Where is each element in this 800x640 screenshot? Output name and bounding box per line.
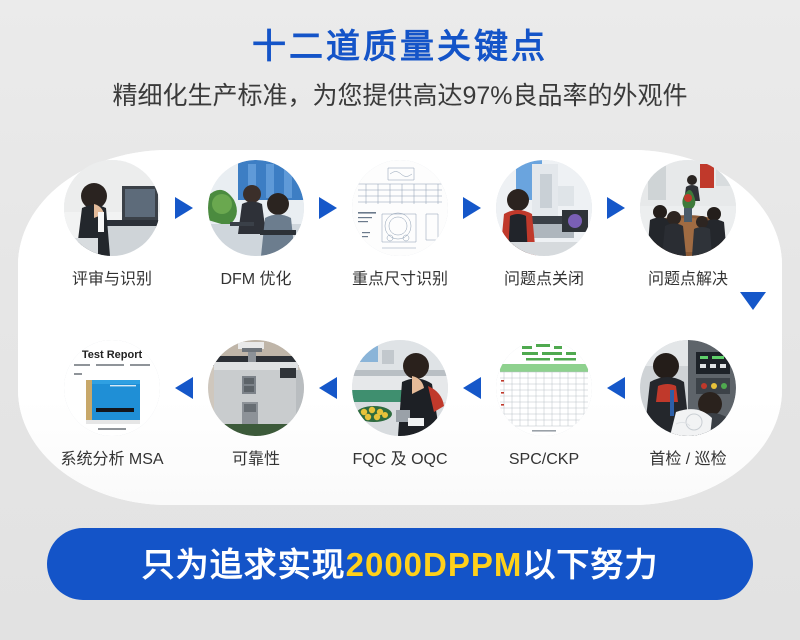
flow-arrow-right-icon [603, 160, 629, 256]
operators-at-cnc-machine-photo [640, 340, 736, 436]
page-subtitle: 精细化生产标准，为您提供高达97%良品率的外观件 [0, 81, 800, 111]
flow-step-label: 系统分析 MSA [60, 450, 163, 469]
banner-text-highlight: 2000DPPM [346, 546, 523, 583]
page-title: 十二道质量关键点 [0, 28, 800, 67]
test-report-document: Test Report [64, 340, 160, 436]
flow-arrow-left-icon [603, 340, 629, 436]
infographic-poster: 十二道质量关键点 精细化生产标准，为您提供高达97%良品率的外观件 [0, 0, 800, 640]
flow-step-label: 问题点关闭 [504, 270, 584, 289]
flow-step-msa[interactable]: Test Report [53, 340, 171, 469]
flow-step-label: DFM 优化 [220, 270, 291, 289]
flow-step-fqc-oqc[interactable]: FQC 及 OQC [341, 340, 459, 469]
flow-step-label: 重点尺寸识别 [352, 270, 448, 289]
engineer-at-desk-photo [64, 160, 160, 256]
flow-step-key-dimension[interactable]: 重点尺寸识别 [341, 160, 459, 289]
flow-step-label: 可靠性 [232, 450, 280, 469]
flow-step-label: FQC 及 OQC [352, 450, 447, 469]
flow-row-top: 评审与识别 [0, 160, 800, 289]
spc-data-sheet-document [496, 340, 592, 436]
cmm-measuring-machine-photo [496, 160, 592, 256]
flow-step-label: SPC/CKP [509, 450, 579, 469]
flow-step-label: 首检 / 巡检 [649, 450, 726, 469]
flow-step-issue-close[interactable]: 问题点关闭 [485, 160, 603, 289]
heading-block: 十二道质量关键点 精细化生产标准，为您提供高达97%良品率的外观件 [0, 0, 800, 111]
flow-step-dfm[interactable]: DFM 优化 [197, 160, 315, 289]
flow-arrow-right-icon [315, 160, 341, 256]
svg-text:Test Report: Test Report [82, 349, 143, 361]
flow-arrow-right-icon [171, 160, 197, 256]
conference-room-meeting-photo [640, 160, 736, 256]
flow-step-spc-ckp[interactable]: SPC/CKP [485, 340, 603, 469]
environmental-test-chamber-photo [208, 340, 304, 436]
flow-arrow-right-icon [459, 160, 485, 256]
flow-arrow-left-icon [171, 340, 197, 436]
flow-arrow-left-icon [315, 340, 341, 436]
flow-step-issue-resolve[interactable]: 问题点解决 [629, 160, 747, 289]
bottom-banner: 只为追求实现2000DPPM以下努力 [47, 528, 753, 600]
cad-drawing-document [352, 160, 448, 256]
team-meeting-desk-photo [208, 160, 304, 256]
flow-arrow-down-icon [740, 292, 766, 310]
flow-step-label: 评审与识别 [72, 270, 152, 289]
banner-text-before: 只为追求实现 [142, 546, 346, 583]
flow-row-bottom: Test Report [0, 340, 800, 469]
inspector-at-bench-photo [352, 340, 448, 436]
banner-text: 只为追求实现2000DPPM以下努力 [142, 548, 659, 581]
flow-step-reliability[interactable]: 可靠性 [197, 340, 315, 469]
flow-step-label: 问题点解决 [648, 270, 728, 289]
flow-step-review[interactable]: 评审与识别 [53, 160, 171, 289]
banner-text-after: 以下努力 [522, 546, 658, 583]
flow-step-first-patrol-inspection[interactable]: 首检 / 巡检 [629, 340, 747, 469]
flow-arrow-left-icon [459, 340, 485, 436]
